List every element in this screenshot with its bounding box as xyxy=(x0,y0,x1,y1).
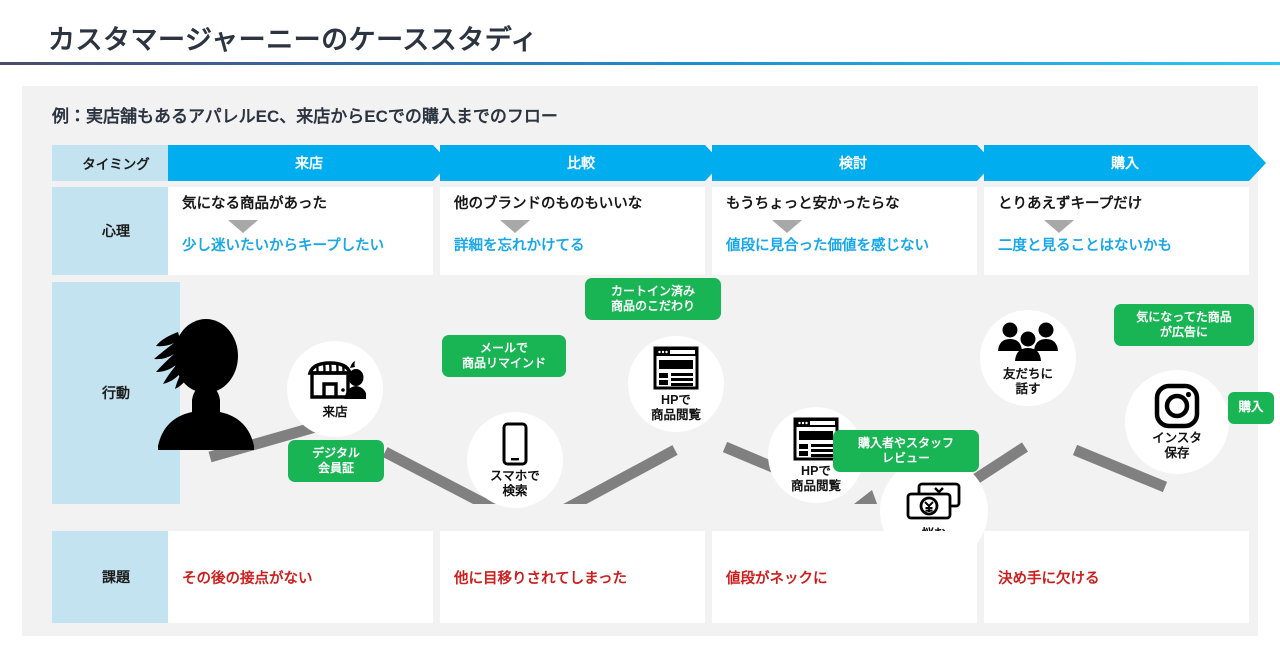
psychology-card-3-bottom: 値段に見合った価値を感じない xyxy=(726,239,963,255)
issue-card-4: 決め手に欠ける xyxy=(984,531,1249,623)
row-label-timing: タイミング xyxy=(52,145,180,181)
arrow-down-icon xyxy=(500,220,530,233)
timing-chevron-1-label: 来店 xyxy=(295,153,323,173)
storefront-icon xyxy=(304,358,366,402)
row-label-action-text: 行動 xyxy=(102,383,130,403)
psychology-card-3: もうちょっと安かったらな 値段に見合った価値を感じない xyxy=(712,187,977,275)
instagram-icon xyxy=(1154,384,1200,428)
issue-card-3-text: 値段がネックに xyxy=(726,567,828,588)
issue-card-2-text: 他に目移りされてしまった xyxy=(454,567,627,588)
psychology-card-4-top: とりあえずキープだけ xyxy=(998,197,1235,213)
back-arrow-head xyxy=(854,490,880,504)
touchpoint-digital-membership[interactable]: デジタル 会員証 xyxy=(288,440,384,482)
touchpoint-cart-item-detail[interactable]: カートイン済み 商品のこだわり xyxy=(585,278,721,320)
journey-node-instagram-save[interactable]: インスタ 保存 xyxy=(1125,370,1229,474)
psychology-card-1: 気になる商品があった 少し迷いたいからキープしたい xyxy=(168,187,433,275)
timing-chevron-3[interactable]: 検討 xyxy=(712,145,994,181)
journey-node-browse-site-1[interactable]: HPで 商品閲覧 xyxy=(628,336,724,432)
row-label-issue-text: 課題 xyxy=(102,567,130,587)
psychology-card-2-top: 他のブランドのものもいいな xyxy=(454,197,691,213)
journey-node-tell-friends-label: 友だちに 話す xyxy=(1003,367,1053,396)
arrow-down-icon xyxy=(1044,220,1074,233)
customer-journey-slide: カスタマージャーニーのケーススタディ 例：実店舗もあるアパレルEC、来店からEC… xyxy=(0,0,1280,655)
psychology-card-1-top: 気になる商品があった xyxy=(182,197,419,213)
issue-card-1-text: その後の接点がない xyxy=(182,567,313,588)
row-label-psychology-text: 心理 xyxy=(102,221,130,241)
panel-subtitle: 例：実店舗もあるアパレルEC、来店からECでの購入までのフロー xyxy=(52,102,558,127)
timing-chevron-2-label: 比較 xyxy=(567,153,595,173)
timing-chevron-1[interactable]: 来店 xyxy=(168,145,450,181)
journey-panel: 例：実店舗もあるアパレルEC、来店からECでの購入までのフロー タイミング 心理… xyxy=(22,86,1258,636)
psychology-card-2: 他のブランドのものもいいな 詳細を忘れかけてる xyxy=(440,187,705,275)
page-title: カスタマージャーニーのケーススタディ xyxy=(48,18,538,57)
webpage-icon xyxy=(653,346,699,390)
persona-avatar xyxy=(144,314,260,455)
row-label-timing-text: タイミング xyxy=(82,153,150,173)
psychology-card-4: とりあえずキープだけ 二度と見ることはないかも xyxy=(984,187,1249,275)
touchpoint-purchase[interactable]: 購入 xyxy=(1228,392,1274,424)
arrow-down-icon xyxy=(772,220,802,233)
journey-node-visit-store-label: 来店 xyxy=(322,405,347,419)
issue-card-1: その後の接点がない xyxy=(168,531,433,623)
psychology-card-1-bottom: 少し迷いたいからキープしたい xyxy=(182,239,419,255)
row-label-psychology: 心理 xyxy=(52,187,180,275)
issue-card-3: 値段がネックに xyxy=(712,531,977,623)
arrow-down-icon xyxy=(228,220,258,233)
journey-node-tell-friends[interactable]: 友だちに 話す xyxy=(980,310,1076,406)
timing-chevron-4[interactable]: 購入 xyxy=(984,145,1266,181)
timing-chevron-3-label: 検討 xyxy=(839,153,867,173)
journey-node-smartphone-search[interactable]: スマホで 検索 xyxy=(467,412,563,508)
timing-chevron-4-label: 購入 xyxy=(1111,153,1139,173)
touchpoint-buyer-staff-review[interactable]: 購入者やスタッフ レビュー xyxy=(833,430,979,472)
journey-node-smartphone-search-label: スマホで 検索 xyxy=(490,469,540,498)
psychology-card-2-bottom: 詳細を忘れかけてる xyxy=(454,239,691,255)
journey-node-visit-store[interactable]: 来店 xyxy=(287,341,383,437)
smartphone-icon xyxy=(501,422,529,466)
issue-card-2: 他に目移りされてしまった xyxy=(440,531,705,623)
title-divider xyxy=(0,62,1280,65)
psychology-card-3-top: もうちょっと安かったらな xyxy=(726,197,963,213)
touchpoint-retargeting-ad[interactable]: 気になってた商品 が広告に xyxy=(1114,304,1254,346)
person-silhouette-icon xyxy=(144,314,260,450)
action-row: 来店 スマホで 検索 xyxy=(180,282,1258,504)
psychology-card-4-bottom: 二度と見ることはないかも xyxy=(998,239,1235,255)
timing-chevron-2[interactable]: 比較 xyxy=(440,145,722,181)
money-yen-icon xyxy=(905,480,963,524)
people-group-icon xyxy=(996,320,1060,364)
touchpoint-email-reminder[interactable]: メールで 商品リマインド xyxy=(442,335,566,377)
journey-node-browse-site-1-label: HPで 商品閲覧 xyxy=(651,393,701,422)
row-label-issue: 課題 xyxy=(52,531,180,623)
issue-card-4-text: 決め手に欠ける xyxy=(998,567,1100,588)
journey-node-instagram-save-label: インスタ 保存 xyxy=(1152,431,1202,460)
